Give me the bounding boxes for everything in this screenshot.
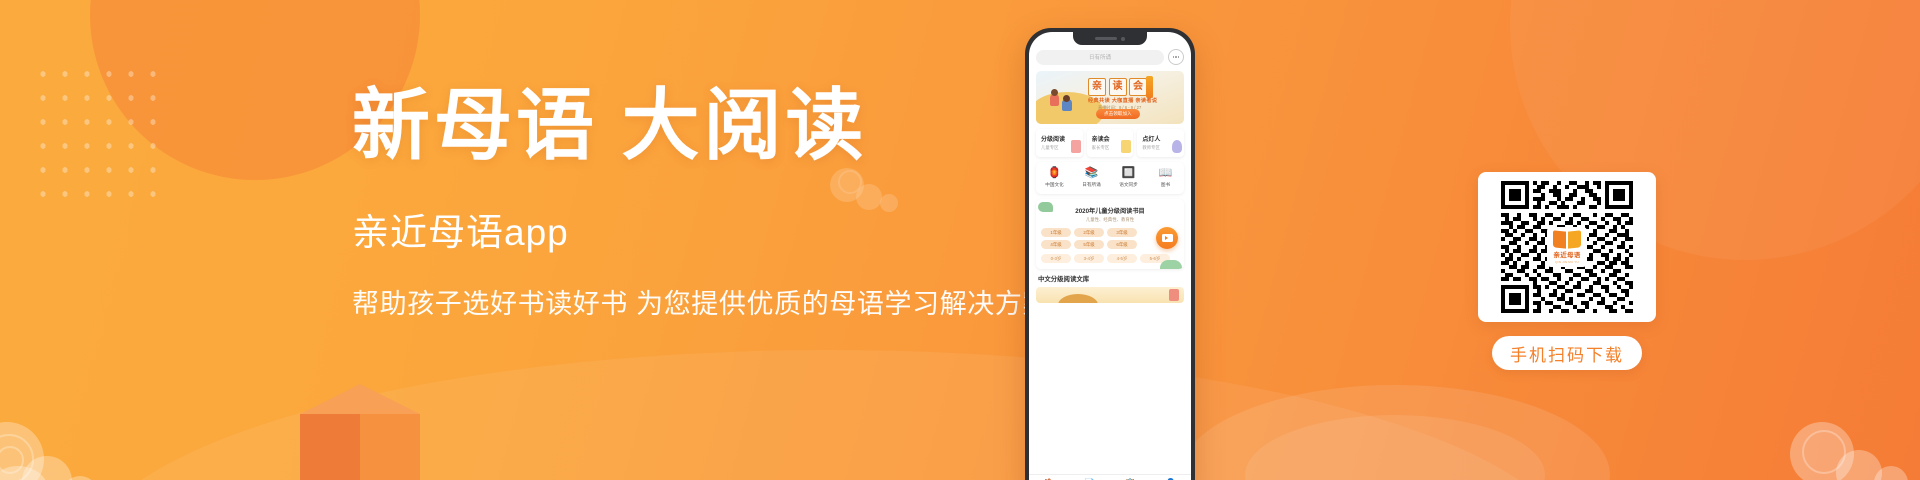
hero-cta-button[interactable]: 点击领取加入: [1096, 109, 1140, 119]
sun-decor-icon: [1058, 294, 1098, 303]
books-icon: 📚: [1085, 168, 1099, 179]
banner-tagline: 帮助孩子选好书读好书 为您提供优质的母语学习解决方案: [352, 282, 1012, 321]
bookmark-icon: [1071, 140, 1081, 153]
hero-features: 经典共读 大咖直播 亲读者说: [1088, 97, 1157, 104]
quick-link-label: 日有所诵: [1082, 182, 1100, 188]
booklist-card[interactable]: 2020年儿童分级阅读书目 儿童性、经典性、教育性 1年级 2年级 3年级 4年…: [1036, 199, 1184, 269]
decorative-arc: [80, 350, 1580, 480]
quick-link-label: 图书: [1161, 182, 1170, 188]
decorative-cloud-bottom-left: [0, 384, 170, 480]
quick-link-books[interactable]: 📖 图书: [1153, 168, 1179, 188]
promo-banner: 新母语 大阅读 亲近母语app 帮助孩子选好书读好书 为您提供优质的母语学习解决…: [0, 0, 1920, 480]
booklist-subtitle: 儿童性、经典性、教育性: [1041, 217, 1179, 223]
leaf-decor-icon: [1038, 202, 1053, 212]
category-cards: 分级阅读 儿童专区 亲读会 家长专区 点灯人 教师专区: [1036, 129, 1184, 157]
age-chip[interactable]: 0-3岁: [1041, 254, 1071, 263]
decorative-ellipse-phone: [1180, 385, 1610, 480]
quick-link-sync[interactable]: 🔲 语文同步: [1116, 168, 1142, 188]
brand-logo: 亲近母语 QIN JIN MU YU: [1547, 227, 1587, 267]
grade-chip[interactable]: 3年级: [1107, 228, 1137, 237]
qr-card: 亲近母语 QIN JIN MU YU: [1478, 172, 1656, 322]
grade-chip[interactable]: 5年级: [1074, 240, 1104, 249]
lantern-icon: 🏮: [1048, 168, 1062, 179]
age-chip[interactable]: 4-5岁: [1107, 254, 1137, 263]
search-row: 日有所诵: [1036, 49, 1184, 65]
hero-title-char: 会: [1129, 78, 1147, 96]
quick-link-label: 语文同步: [1119, 182, 1137, 188]
quick-link-recite[interactable]: 📚 日有所诵: [1079, 168, 1105, 188]
leaf-decor-icon: [1160, 260, 1182, 269]
pin-decor-icon: [1169, 289, 1179, 301]
quick-link-culture[interactable]: 🏮 中国文化: [1042, 168, 1068, 188]
page-title: 新母语 大阅读: [352, 84, 1012, 168]
book-icon: 📖: [1159, 168, 1173, 179]
banner-copy: 新母语 大阅读 亲近母语app 帮助孩子选好书读好书 为您提供优质的母语学习解决…: [352, 84, 1012, 321]
brand-name: 亲近母语: [1553, 249, 1580, 259]
qr-code-icon[interactable]: 亲近母语 QIN JIN MU YU: [1487, 181, 1647, 313]
hero-title-char: 亲: [1088, 78, 1106, 96]
quick-link-label: 中国文化: [1045, 182, 1063, 188]
hero-ribbon-icon: [1146, 76, 1153, 98]
video-play-icon[interactable]: [1156, 227, 1178, 249]
grade-chip[interactable]: 6年级: [1107, 240, 1137, 249]
age-chip-group: 0-3岁 3-4岁 4-5岁 5-6岁: [1041, 254, 1179, 263]
grade-chip[interactable]: 4年级: [1041, 240, 1071, 249]
grade-chip[interactable]: 2年级: [1074, 228, 1104, 237]
download-button[interactable]: 手机扫码下载: [1492, 336, 1642, 370]
sync-icon: 🔲: [1122, 168, 1136, 179]
person-icon: [1172, 140, 1182, 153]
app-name: 亲近母语app: [352, 202, 1012, 256]
speaker-icon: [1095, 37, 1117, 40]
app-screen: 日有所诵 亲 读 会 经: [1029, 32, 1191, 303]
category-card[interactable]: 点灯人 教师专区: [1137, 129, 1184, 157]
grade-chip[interactable]: 1年级: [1041, 228, 1071, 237]
decorative-cube: [300, 384, 420, 480]
library-section-title: 中文分级阅读文库: [1038, 274, 1184, 283]
hero-child-red-head: [1051, 89, 1058, 96]
brand-name-pinyin: QIN JIN MU YU: [1555, 260, 1579, 264]
phone-mockup: 日有所诵 亲 读 会 经: [1025, 28, 1195, 480]
camera-icon: [1121, 37, 1125, 41]
quick-icon-row: 🏮 中国文化 📚 日有所诵 🔲 语文同步 📖 图书: [1036, 162, 1184, 194]
bottom-tab-bar: 🏠 首页 📄 小程读写 📋 学习 👤 我的: [1029, 474, 1191, 480]
library-card[interactable]: [1036, 287, 1184, 303]
decorative-ellipse-phone-inner: [1245, 415, 1545, 480]
age-chip[interactable]: 3-4岁: [1074, 254, 1104, 263]
hero-child-blue-head: [1063, 95, 1070, 102]
category-card[interactable]: 亲读会 家长专区: [1087, 129, 1134, 157]
hero-title: 亲 读 会: [1088, 78, 1147, 96]
category-card[interactable]: 分级阅读 儿童专区: [1036, 129, 1083, 157]
open-book-icon: [1553, 231, 1581, 248]
decorative-dot-grid: [32, 62, 170, 212]
hero-title-char: 读: [1109, 78, 1127, 96]
qr-download-block: 亲近母语 QIN JIN MU YU 手机扫码下载: [1463, 172, 1671, 370]
more-dots-icon[interactable]: [1168, 49, 1184, 65]
booklist-title: 2020年儿童分级阅读书目: [1041, 206, 1179, 215]
hero-promo-banner[interactable]: 亲 读 会 经典共读 大咖直播 亲读者说 直播时间：9 / 6 - 9 / 27…: [1036, 71, 1184, 124]
decorative-cloud-bottom-right: [1790, 380, 1920, 480]
phone-notch: [1073, 32, 1147, 45]
search-input[interactable]: 日有所诵: [1036, 50, 1164, 65]
bookmark-icon: [1121, 140, 1131, 153]
